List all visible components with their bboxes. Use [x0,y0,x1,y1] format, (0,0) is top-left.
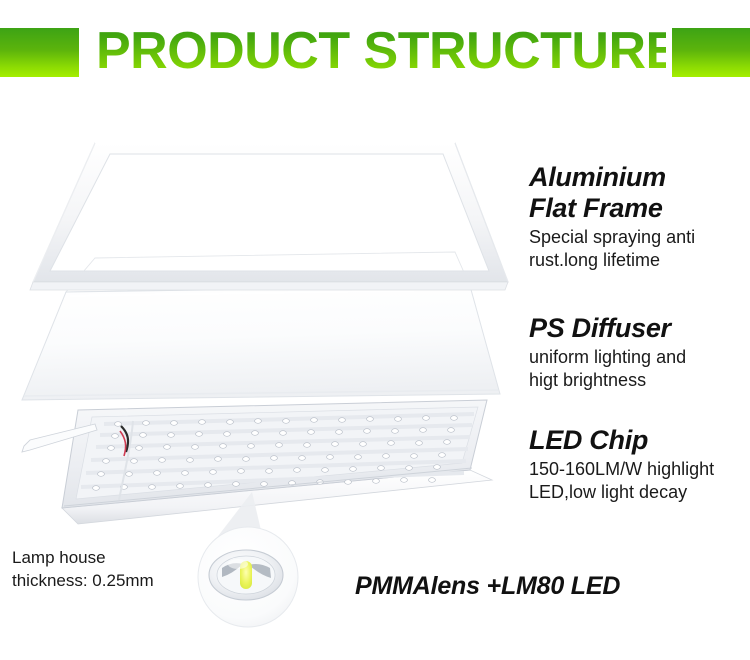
pmma-lens-note: PMMAlens +LM80 LED [355,572,620,601]
lamp-house-thickness-note: Lamp house thickness: 0.25mm [12,546,154,592]
callout-ps-diffuser: PS Diffuser uniform lighting and higt br… [529,313,686,392]
callout-description: 150-160LM/W highlight LED,low light deca… [529,458,714,504]
pmma-lens-magnifier [198,527,298,627]
diffuser-panel [22,286,500,400]
callout-title: Aluminium Flat Frame [529,162,695,224]
callout-aluminium-flat-frame: Aluminium Flat Frame Special spraying an… [529,162,695,272]
callout-title: PS Diffuser [529,313,686,344]
callout-description: Special spraying anti rust.long lifetime [529,226,695,272]
callout-description: uniform lighting and higt brightness [529,346,686,392]
callout-led-chip: LED Chip 150-160LM/W highlight LED,low l… [529,425,714,504]
callout-title: LED Chip [529,425,714,456]
led-chip-board-layer [22,400,492,524]
product-structure-infographic: PRODUCT STRUCTURE [0,0,750,660]
frame-bottom-rail [30,282,508,290]
